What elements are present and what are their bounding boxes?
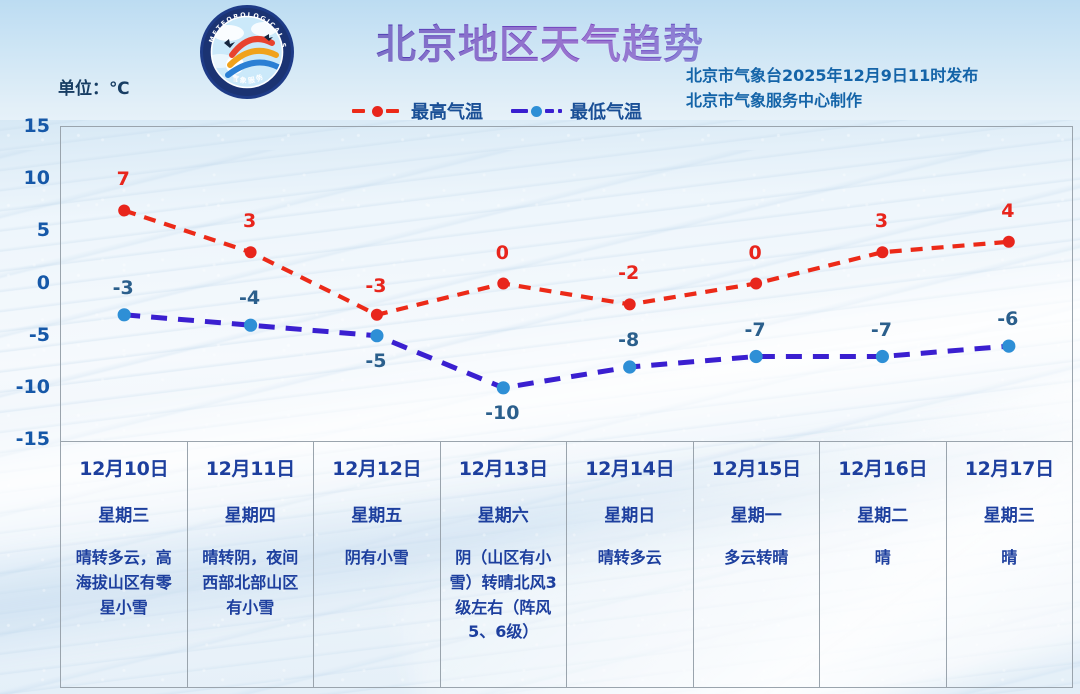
forecast-description: 晴 (827, 546, 939, 571)
data-point-marker[interactable] (244, 319, 257, 332)
forecast-day-column[interactable]: 12月10日星期三晴转多云，高海拔山区有零星小雪 (61, 442, 188, 687)
data-point-marker[interactable] (370, 329, 383, 342)
chart-plot-area (60, 126, 1073, 441)
page-title: 北京地区天气趋势 (0, 12, 1080, 70)
data-point-marker[interactable] (245, 246, 257, 258)
legend-item-low-temp[interactable]: 最低气温 (511, 98, 642, 124)
data-point-label: -8 (618, 329, 639, 351)
data-point-label: 7 (117, 168, 130, 190)
forecast-weekday: 星期四 (195, 501, 307, 526)
forecast-description: 阴有小雪 (321, 546, 433, 571)
y-axis-tick: 15 (24, 115, 50, 137)
y-axis-tick: 5 (37, 219, 50, 241)
data-point-marker[interactable] (750, 278, 762, 290)
publisher-info: 北京市气象台2025年12月9日11时发布 北京市气象服务中心制作 (686, 64, 1066, 114)
forecast-day-column[interactable]: 12月13日星期六阴（山区有小雪）转晴北风3级左右（阵风 5、6级） (441, 442, 568, 687)
legend-marker-high-temp-icon (352, 104, 404, 118)
forecast-day-column[interactable]: 12月15日星期一多云转晴 (694, 442, 821, 687)
data-point-label: -7 (871, 319, 892, 341)
data-point-label: -5 (365, 350, 386, 372)
forecast-date: 12月16日 (827, 454, 939, 481)
data-point-marker[interactable] (876, 350, 889, 363)
forecast-description: 晴转阴，夜间西部北部山区有小雪 (195, 546, 307, 620)
data-point-marker[interactable] (876, 246, 888, 258)
forecast-description: 阴（山区有小雪）转晴北风3级左右（阵风 5、6级） (448, 546, 560, 645)
data-point-label: -10 (485, 402, 519, 424)
forecast-weekday: 星期五 (321, 501, 433, 526)
forecast-day-column[interactable]: 12月17日星期三晴 (947, 442, 1073, 687)
forecast-day-column[interactable]: 12月16日星期二晴 (820, 442, 947, 687)
y-axis: 151050-5-10-15 (0, 126, 56, 448)
data-point-marker[interactable] (497, 381, 510, 394)
data-point-marker[interactable] (623, 360, 636, 373)
forecast-day-column[interactable]: 12月12日星期五阴有小雪 (314, 442, 441, 687)
y-axis-tick: -10 (16, 376, 50, 398)
forecast-weekday: 星期二 (827, 501, 939, 526)
data-point-marker[interactable] (1002, 340, 1015, 353)
data-point-label: 0 (748, 242, 761, 264)
data-point-marker[interactable] (497, 278, 509, 290)
y-axis-tick: -15 (16, 428, 50, 450)
forecast-weekday: 星期六 (448, 501, 560, 526)
data-point-label: -3 (365, 275, 386, 297)
data-point-marker[interactable] (750, 350, 763, 363)
forecast-day-table: 12月10日星期三晴转多云，高海拔山区有零星小雪12月11日星期四晴转阴，夜间西… (60, 441, 1073, 688)
unit-label: 单位：℃ (58, 74, 130, 99)
forecast-day-column[interactable]: 12月11日星期四晴转阴，夜间西部北部山区有小雪 (188, 442, 315, 687)
forecast-weekday: 星期一 (701, 501, 813, 526)
chart-lines-svg (61, 127, 1072, 440)
legend-label-high-temp: 最高气温 (411, 98, 483, 124)
chart-legend: 最高气温 最低气温 (352, 98, 642, 124)
forecast-description: 晴 (954, 546, 1066, 571)
forecast-date: 12月17日 (954, 454, 1066, 481)
legend-item-high-temp[interactable]: 最高气温 (352, 98, 483, 124)
forecast-date: 12月15日 (701, 454, 813, 481)
data-point-marker[interactable] (624, 298, 636, 310)
data-point-label: 3 (243, 210, 256, 232)
forecast-date: 12月13日 (448, 454, 560, 481)
forecast-date: 12月11日 (195, 454, 307, 481)
forecast-date: 12月14日 (574, 454, 686, 481)
y-axis-tick: 10 (24, 167, 50, 189)
data-point-label: -7 (745, 319, 766, 341)
legend-label-low-temp: 最低气温 (570, 98, 642, 124)
data-point-marker[interactable] (1003, 236, 1015, 248)
data-point-label: -2 (618, 262, 639, 284)
data-point-label: 3 (875, 210, 888, 232)
data-point-marker[interactable] (118, 205, 130, 217)
data-point-label: -6 (997, 308, 1018, 330)
data-point-label: 4 (1001, 200, 1014, 222)
data-point-marker[interactable] (118, 308, 131, 321)
y-axis-tick: -5 (29, 324, 50, 346)
data-point-label: 0 (496, 242, 509, 264)
data-point-label: -4 (239, 287, 260, 309)
forecast-description: 晴转多云 (574, 546, 686, 571)
forecast-description: 晴转多云，高海拔山区有零星小雪 (68, 546, 180, 620)
forecast-date: 12月10日 (68, 454, 180, 481)
forecast-description: 多云转晴 (701, 546, 813, 571)
data-point-marker[interactable] (371, 309, 383, 321)
forecast-weekday: 星期三 (954, 501, 1066, 526)
y-axis-tick: 0 (37, 272, 50, 294)
legend-marker-low-temp-icon (511, 104, 563, 118)
publisher-line-2: 北京市气象服务中心制作 (686, 89, 1066, 114)
data-point-label: -3 (113, 277, 134, 299)
publisher-line-1: 北京市气象台2025年12月9日11时发布 (686, 64, 1066, 89)
forecast-weekday: 星期日 (574, 501, 686, 526)
forecast-day-column[interactable]: 12月14日星期日晴转多云 (567, 442, 694, 687)
forecast-date: 12月12日 (321, 454, 433, 481)
forecast-weekday: 星期三 (68, 501, 180, 526)
